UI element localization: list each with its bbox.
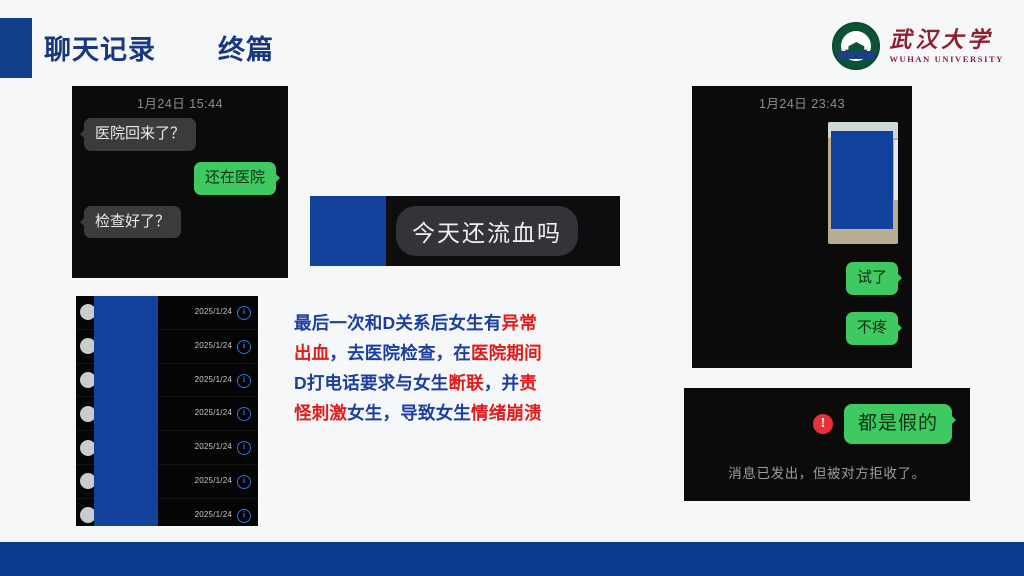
caption-text: D打电话要求与女生 [294, 373, 448, 393]
message-row: 不疼 [846, 312, 898, 345]
info-icon[interactable]: i [237, 374, 251, 388]
message-row: ! 都是假的 [684, 388, 970, 444]
message-bubble-outgoing: 还在医院 [194, 162, 276, 195]
info-icon[interactable]: i [237, 306, 251, 320]
caption-highlight: 出血 [294, 343, 329, 363]
caption-text: ，并 [484, 373, 519, 393]
redaction-block [831, 131, 893, 229]
caption-text: 最后一次和D关系后女生有 [294, 313, 502, 333]
caption-text: 女生，导致女生 [347, 403, 471, 423]
call-date: 2025/1/24 [195, 408, 232, 417]
page-title: 聊天记录 [44, 28, 156, 67]
info-icon[interactable]: i [237, 340, 251, 354]
caption-highlight: 情绪崩溃 [471, 403, 542, 423]
logo-name-cn: 武汉大学 [889, 29, 1004, 51]
chat-screenshot-2: 今天还流血吗 [310, 196, 620, 266]
chat-screenshot-4: ! 都是假的 消息已发出，但被对方拒收了。 [684, 388, 970, 501]
system-message: 消息已发出，但被对方拒收了。 [684, 462, 970, 482]
caption-highlight: 怪刺激 [294, 403, 347, 423]
slide-root: 聊天记录 终篇 武汉大学 WUHAN UNIVERSITY 1月24日 15:4… [0, 0, 1024, 576]
call-date: 2025/1/24 [195, 341, 232, 350]
redaction-block [94, 296, 158, 526]
message-bubble-outgoing: 都是假的 [844, 404, 952, 444]
logo-name-en: WUHAN UNIVERSITY [889, 55, 1004, 64]
wuhan-university-logo: 武汉大学 WUHAN UNIVERSITY [832, 22, 1004, 70]
photo-edge [894, 140, 898, 200]
message-row: 检查好了？ [72, 206, 288, 250]
caption-highlight: 断联 [448, 373, 483, 393]
call-date: 2025/1/24 [195, 476, 232, 485]
chat-screenshot-3: 1月24日 23:43 试了 不疼 [692, 86, 912, 368]
footer-bar [0, 542, 1024, 576]
caption-highlight: 医院期间 [471, 343, 542, 363]
info-icon[interactable]: i [237, 475, 251, 489]
info-icon[interactable]: i [237, 509, 251, 523]
call-date: 2025/1/24 [195, 510, 232, 519]
redaction-block [310, 196, 386, 266]
caption-highlight: 责 [519, 373, 537, 393]
page-subtitle: 终篇 [218, 28, 274, 67]
caption-block: 最后一次和D关系后女生有异常 出血，去医院检查，在医院期间 D打电话要求与女生断… [294, 308, 614, 428]
caption-line-4: 怪刺激女生，导致女生情绪崩溃 [294, 398, 614, 428]
chat-timestamp: 1月24日 15:44 [72, 86, 288, 118]
message-bubble-incoming: 医院回来了？ [84, 118, 196, 151]
error-icon[interactable]: ! [813, 414, 833, 434]
chat-screenshot-1: 1月24日 15:44 医院回来了？ 还在医院 检查好了？ [72, 86, 288, 278]
call-date: 2025/1/24 [195, 442, 232, 451]
caption-highlight: 异常 [502, 313, 537, 333]
info-icon[interactable]: i [237, 407, 251, 421]
caption-line-1: 最后一次和D关系后女生有异常 [294, 308, 614, 338]
header-accent-block [0, 18, 32, 78]
logo-text-group: 武汉大学 WUHAN UNIVERSITY [889, 29, 1004, 64]
info-icon[interactable]: i [237, 441, 251, 455]
message-row: 医院回来了？ [72, 118, 288, 162]
message-row: 试了 [846, 262, 898, 295]
message-row: 还在医院 [72, 162, 288, 206]
photo-attachment[interactable] [828, 122, 898, 244]
emblem-band [837, 51, 875, 59]
message-bubble-incoming: 检查好了？ [84, 206, 181, 239]
call-date: 2025/1/24 [195, 307, 232, 316]
caption-line-2: 出血，去医院检查，在医院期间 [294, 338, 614, 368]
message-bubble-incoming: 今天还流血吗 [396, 206, 578, 256]
message-bubble-outgoing: 试了 [846, 262, 898, 295]
call-date: 2025/1/24 [195, 375, 232, 384]
chat-timestamp: 1月24日 23:43 [692, 86, 912, 118]
caption-line-3: D打电话要求与女生断联，并责 [294, 368, 614, 398]
message-bubble-outgoing: 不疼 [846, 312, 898, 345]
caption-text: ，去医院检查，在 [329, 343, 471, 363]
call-log-screenshot: (2) 2025/1/24 i 2025/1/24 i (5) 2025/1/2… [76, 296, 258, 526]
university-emblem-icon [832, 22, 880, 70]
